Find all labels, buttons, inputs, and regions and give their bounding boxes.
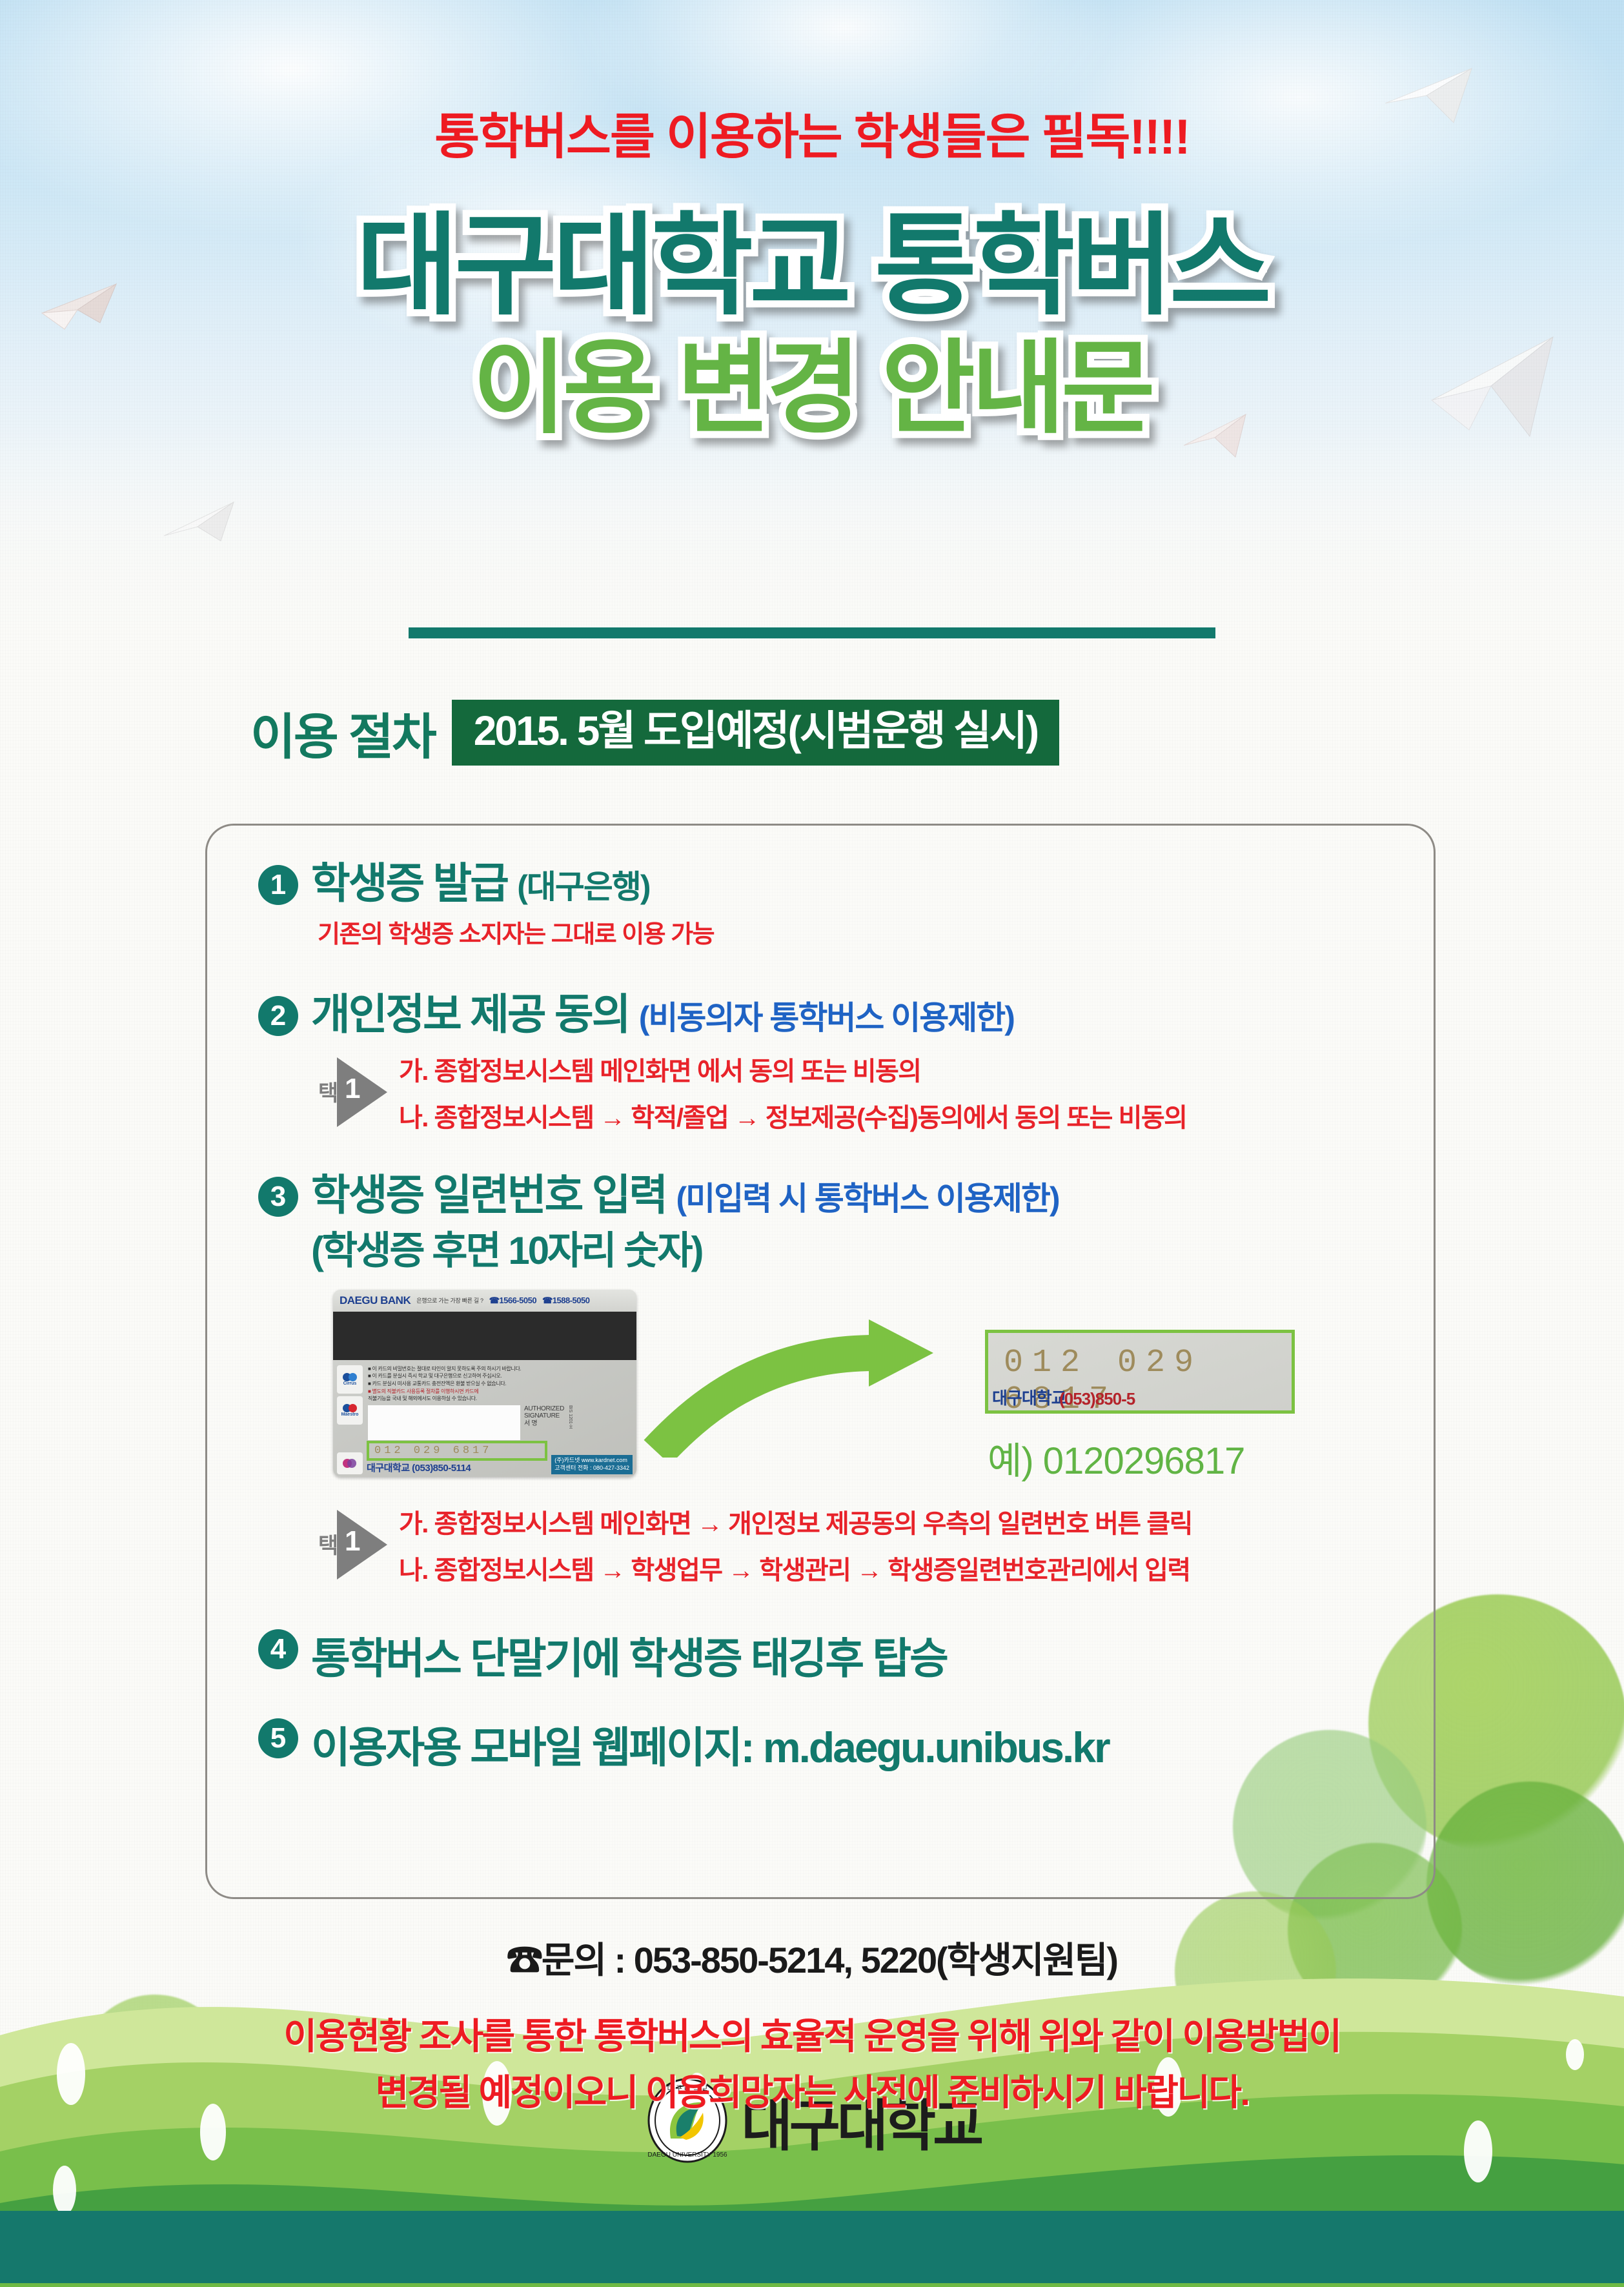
step-title-3: 학생증 일련번호 입력 (미입력 시 통학버스 이용제한)	[311, 1172, 1059, 1219]
step-number-3: 3	[258, 1177, 298, 1217]
step-title-4: 통학버스 단말기에 학생증 태깅후 탑승	[311, 1624, 947, 1686]
signature-label: AUTHORIZED SIGNATURE 서 명	[524, 1405, 564, 1428]
svg-text:DAEGU UNIVERSITY 1956: DAEGU UNIVERSITY 1956	[647, 2151, 727, 2159]
card-serial-number: 012 029 6817	[374, 1445, 540, 1457]
card-footer: 012 029 6817 대구대학교 (053)850-5114 (주)카드넷 …	[333, 1441, 636, 1477]
choose-one-value: 1	[345, 1073, 360, 1105]
step-title-1: 학생증 발급 (대구은행)	[311, 860, 650, 908]
green-curved-arrow-icon	[598, 1316, 998, 1458]
signature-code: BIS 1201-H	[568, 1405, 573, 1428]
kardnet-url: www.kardnet.com	[582, 1457, 627, 1463]
step-5: 5 이용자용 모바일 웹페이지: m.daegu.unibus.kr	[258, 1713, 1439, 1775]
closing-notice-line-2: 변경될 예정이오니 이용희망자는 사전에 준비하시기 바랍니다.	[0, 2065, 1624, 2121]
cirrus-logo-icon: Cirrus	[337, 1365, 363, 1394]
section-label: 이용 절차	[250, 697, 435, 768]
section-header: 이용 절차 2015. 5월 도입예정(시범운행 실시)	[250, 697, 1059, 768]
signature-ko: 서 명	[524, 1420, 564, 1428]
step-3: 3 학생증 일련번호 입력 (미입력 시 통학버스 이용제한) (학생증 후면 …	[258, 1172, 1439, 1587]
card-notice-line: ■ 별도의 직불카드 사용등록 절차를 이행하시면 카드에	[368, 1388, 633, 1396]
bank-brand-label: DAEGU BANK	[340, 1294, 411, 1307]
step-title-5: 이용자용 모바일 웹페이지: m.daegu.unibus.kr	[311, 1713, 1109, 1775]
step-title-2-paren: (비동의자 통학버스 이용제한)	[639, 1000, 1014, 1036]
step-1-note: 기존의 학생증 소지자는 그대로 이용 가능	[318, 914, 1439, 950]
step-3-choice-group: 택 1 가. 종합정보시스템 메인화면 → 개인정보 제공동의 우측의 일련번호…	[315, 1503, 1439, 1587]
serial-highlight-box: 012 029 6817	[367, 1441, 547, 1461]
step-title-3-text: 학생증 일련번호 입력	[311, 1171, 666, 1219]
step-2-choice-group: 택 1 가. 종합정보시스템 메인화면 에서 동의 또는 비동의 나. 종합정보…	[315, 1050, 1439, 1134]
cirrus-label: Cirrus	[343, 1381, 357, 1386]
bank-card-body: Cirrus Maestro ■ 이 카드의 비밀번호는 절대로 타인이 알지 …	[333, 1360, 636, 1440]
step-2-choice-lines: 가. 종합정보시스템 메인화면 에서 동의 또는 비동의 나. 종합정보시스템 …	[399, 1050, 1186, 1134]
choose-one-triangle-icon: 1	[337, 1057, 387, 1127]
maestro-label: Maestro	[341, 1412, 359, 1417]
bank-tagline: 은행으로 가는 가장 빠른 길 ?	[416, 1296, 483, 1305]
step-title-3-paren: (미입력 시 통학버스 이용제한)	[676, 1181, 1059, 1217]
closing-notice-line-1: 이용현황 조사를 통한 통학버스의 효율적 운영을 위해 위와 같이 이용방법이	[0, 2009, 1624, 2065]
transit-card-icon	[337, 1452, 363, 1474]
section-chip-badge: 2015. 5월 도입예정(시범운행 실시)	[452, 700, 1059, 766]
footer-bar	[0, 2211, 1624, 2287]
bank-card-back-image: DAEGU BANK 은행으로 가는 가장 빠른 길 ? ☎1566-5050 …	[333, 1290, 636, 1477]
poster-title: 대구대학교 통학버스 이용 변경 안내문	[0, 210, 1624, 442]
card-notices: ■ 이 카드의 비밀번호는 절대로 타인이 알지 못하도록 주의 하시기 바랍니…	[368, 1365, 633, 1440]
card-university-line: 대구대학교 (053)850-5114	[367, 1461, 547, 1474]
kardnet-center: 고객센터 전화 : 080-427-3342	[554, 1465, 629, 1472]
card-notice-line: ■ 이 카드의 비밀번호는 절대로 타인이 알지 못하도록 주의 하시기 바랍니…	[368, 1365, 633, 1373]
serial-zoom-box: 012 029 6817 대구대학교 (053)850-5	[985, 1330, 1295, 1414]
step-1: 1 학생증 발급 (대구은행) 기존의 학생증 소지자는 그대로 이용 가능	[258, 860, 1439, 950]
step-title-1-text: 학생증 발급	[311, 859, 507, 907]
choice-line: 나. 종합정보시스템 → 학적/졸업 → 정보제공(수집)동의에서 동의 또는 …	[399, 1097, 1186, 1134]
step-4: 4 통학버스 단말기에 학생증 태깅후 탑승	[258, 1624, 1439, 1686]
step-3-subtitle: (학생증 후면 10자리 숫자)	[311, 1219, 1439, 1276]
magnetic-stripe	[333, 1312, 636, 1360]
step-number-1: 1	[258, 865, 298, 905]
step-title-2: 개인정보 제공 동의 (비동의자 통학버스 이용제한)	[311, 991, 1014, 1039]
kardnet-name: (주)카드넷	[554, 1457, 580, 1463]
title-line-1: 대구대학교 통학버스	[0, 210, 1624, 323]
closing-notice: 이용현황 조사를 통한 통학버스의 효율적 운영을 위해 위와 같이 이용방법이…	[0, 2009, 1624, 2121]
maestro-logo-icon: Maestro	[337, 1396, 363, 1425]
choose-one-value: 1	[345, 1525, 360, 1558]
signature-en-2: SIGNATURE	[524, 1412, 564, 1420]
step-number-4: 4	[258, 1629, 298, 1669]
bank-phone-2: ☎1588-5050	[542, 1296, 589, 1306]
card-notice-line: ■ 이 카드를 분실시 즉시 학교 및 대구은행으로 신고하여 주십시오.	[368, 1372, 633, 1380]
bank-phone-1: ☎1566-5050	[489, 1296, 536, 1306]
card-notice-line: ■ 카드 분실시 미사용 교통카드 충전잔액은 환불 받으실 수 없습니다.	[368, 1380, 633, 1388]
choice-line: 가. 종합정보시스템 메인화면 에서 동의 또는 비동의	[399, 1050, 1186, 1088]
choice-line: 나. 종합정보시스템 → 학생업무 → 학생관리 → 학생증일련번호관리에서 입…	[399, 1549, 1192, 1587]
choose-one-label: 택	[315, 1534, 337, 1555]
choose-one-triangle-icon: 1	[337, 1510, 387, 1580]
step-number-5: 5	[258, 1718, 298, 1758]
step-number-2: 2	[258, 996, 298, 1036]
kardnet-block: (주)카드넷 www.kardnet.com 고객센터 전화 : 080-427…	[551, 1455, 633, 1474]
step-2: 2 개인정보 제공 동의 (비동의자 통학버스 이용제한) 택 1 가. 종합정…	[258, 991, 1439, 1134]
poster-kicker: 통학버스를 이용하는 학생들은 필독!!!!	[0, 97, 1624, 168]
paper-plane-icon	[161, 491, 239, 545]
poster-root: 통학버스를 이용하는 학생들은 필독!!!! 대구대학교 통학버스 이용 변경 …	[0, 0, 1624, 2287]
title-line-2: 이용 변경 안내문	[0, 337, 1624, 441]
title-divider	[409, 627, 1215, 638]
serial-zoom-red-text: (053)850-5	[1059, 1389, 1135, 1409]
card-notice-line: 직불기능을 국내 및 해외에서도 이용하실 수 있습니다.	[368, 1395, 633, 1403]
step-title-1-paren: (대구은행)	[517, 869, 649, 905]
choose-one-badge: 택 1	[315, 1057, 387, 1127]
serial-zoom-blue-text: 대구대학교	[992, 1385, 1066, 1409]
serial-example-label: 예) 0120296817	[988, 1430, 1244, 1485]
bank-card-header: DAEGU BANK 은행으로 가는 가장 빠른 길 ? ☎1566-5050 …	[333, 1290, 636, 1312]
choose-one-label: 택	[315, 1081, 337, 1103]
step-title-2-text: 개인정보 제공 동의	[311, 990, 629, 1038]
choice-line: 가. 종합정보시스템 메인화면 → 개인정보 제공동의 우측의 일련번호 버튼 …	[399, 1503, 1192, 1540]
choose-one-badge: 택 1	[315, 1510, 387, 1580]
step-3-choice-lines: 가. 종합정보시스템 메인화면 → 개인정보 제공동의 우측의 일련번호 버튼 …	[399, 1503, 1192, 1587]
signature-strip	[368, 1405, 520, 1440]
procedure-steps: 1 학생증 발급 (대구은행) 기존의 학생증 소지자는 그대로 이용 가능 2…	[258, 860, 1439, 1775]
signature-area: AUTHORIZED SIGNATURE 서 명 BIS 1201-H	[368, 1405, 633, 1440]
student-card-illustration: DAEGU BANK 은행으로 가는 가장 빠른 길 ? ☎1566-5050 …	[320, 1290, 1439, 1496]
signature-en-1: AUTHORIZED	[524, 1405, 564, 1413]
card-network-logos: Cirrus Maestro	[337, 1365, 364, 1440]
contact-line: ☎문의 : 053-850-5214, 5220(학생지원팀)	[0, 1931, 1624, 1984]
